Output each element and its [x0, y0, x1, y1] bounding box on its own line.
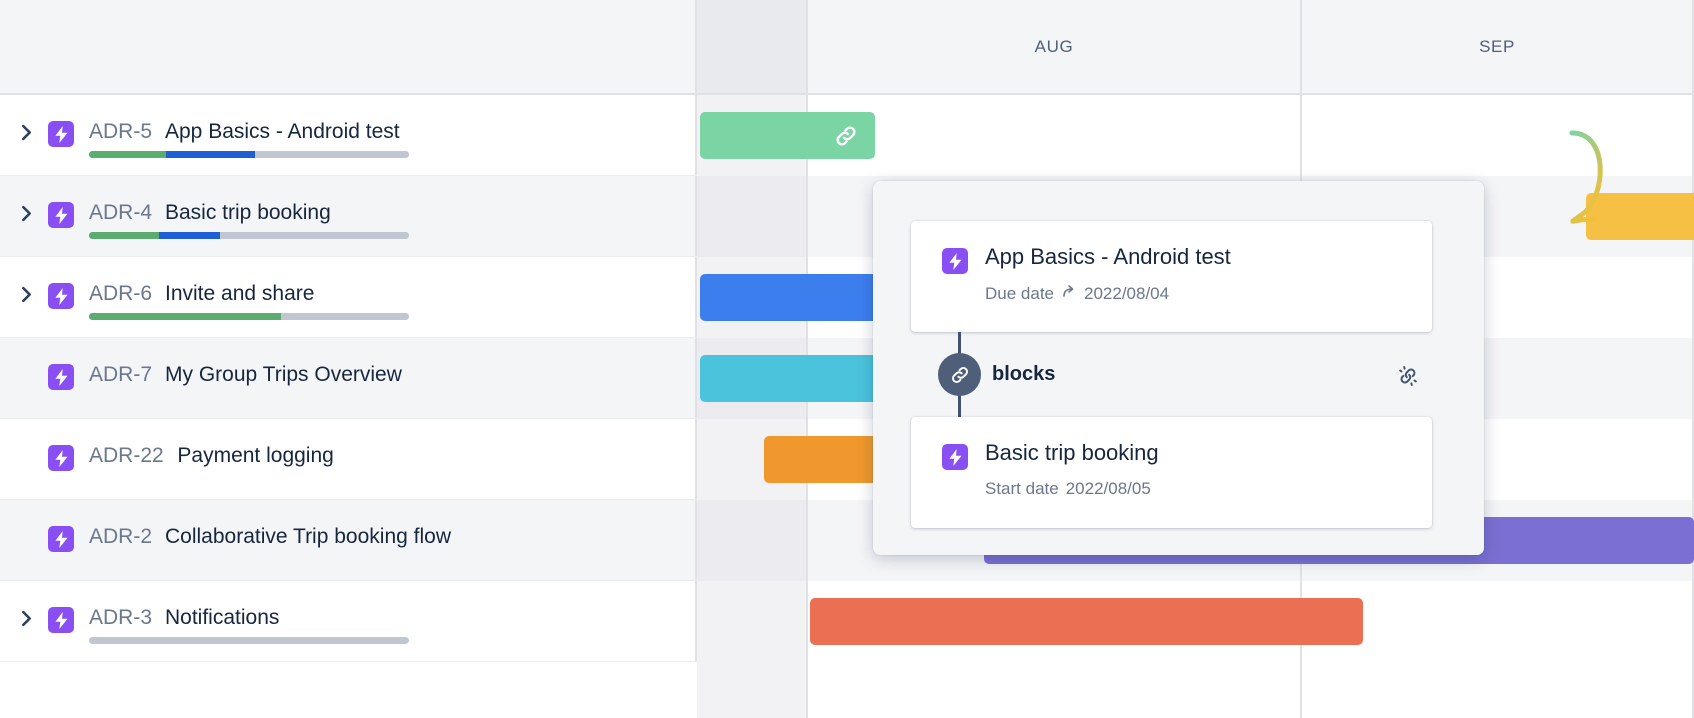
- progress-bar: [89, 313, 409, 320]
- gantt-bar-adr-5[interactable]: [700, 112, 875, 159]
- issue-row-adr-6[interactable]: ADR-6Invite and share: [0, 257, 697, 338]
- epic-bolt-icon: [48, 445, 74, 471]
- month-header-blank: [697, 0, 808, 93]
- progress-segment: [89, 232, 159, 239]
- month-header-sep: SEP: [1302, 0, 1694, 93]
- issue-key[interactable]: ADR-5: [89, 120, 152, 144]
- issue-key[interactable]: ADR-3: [89, 606, 152, 630]
- timeline-app: AUGSEP ADR-5App Basics - Android testADR…: [0, 0, 1694, 718]
- timeline-header: AUGSEP: [0, 0, 1694, 95]
- progress-segment: [89, 637, 409, 644]
- epic-bolt-icon: [48, 607, 74, 633]
- chevron-right-icon[interactable]: [17, 204, 35, 222]
- issue-summary[interactable]: Notifications: [165, 606, 279, 630]
- epic-bolt-icon: [942, 444, 968, 470]
- progress-bar: [89, 232, 409, 239]
- issue-summary[interactable]: Collaborative Trip booking flow: [165, 525, 451, 549]
- issue-row-adr-7[interactable]: ADR-7My Group Trips Overview: [0, 338, 697, 419]
- due-date-arrow-icon: [1061, 283, 1077, 304]
- issue-row-adr-22[interactable]: ADR-22Payment logging: [0, 419, 697, 500]
- gantt-bar-adr-4[interactable]: [1586, 193, 1694, 240]
- gantt-bar-adr-3[interactable]: [810, 598, 1363, 645]
- popup-source-card[interactable]: App Basics - Android test Due date 2022/…: [911, 221, 1432, 332]
- header-issue-column: [0, 0, 697, 93]
- month-label: SEP: [1479, 37, 1515, 57]
- progress-segment: [220, 232, 409, 239]
- epic-bolt-icon: [48, 202, 74, 228]
- popup-target-meta-value: 2022/08/05: [1066, 479, 1151, 499]
- issue-key[interactable]: ADR-4: [89, 201, 152, 225]
- issue-summary[interactable]: Payment logging: [177, 444, 333, 468]
- header-month-scale: AUGSEP: [697, 0, 1694, 93]
- timeline-column: [697, 95, 808, 718]
- row-divider: [0, 661, 697, 662]
- popup-target-meta: Start date 2022/08/05: [985, 479, 1151, 499]
- issue-row-adr-3[interactable]: ADR-3Notifications: [0, 581, 697, 662]
- issue-row-adr-2[interactable]: ADR-2Collaborative Trip booking flow: [0, 500, 697, 581]
- link-icon: [938, 353, 981, 396]
- issue-key[interactable]: ADR-6: [89, 282, 152, 306]
- progress-segment: [166, 151, 256, 158]
- issue-summary[interactable]: Invite and share: [165, 282, 314, 306]
- popup-target-card[interactable]: Basic trip booking Start date 2022/08/05: [911, 417, 1432, 528]
- issue-key[interactable]: ADR-2: [89, 525, 152, 549]
- month-header-aug: AUG: [808, 0, 1302, 93]
- link-icon[interactable]: [833, 123, 859, 149]
- progress-segment: [281, 313, 409, 320]
- issue-key[interactable]: ADR-7: [89, 363, 152, 387]
- epic-bolt-icon: [48, 283, 74, 309]
- progress-segment: [89, 151, 166, 158]
- epic-bolt-icon: [48, 364, 74, 390]
- popup-source-meta: Due date 2022/08/04: [985, 283, 1169, 304]
- issue-summary[interactable]: App Basics - Android test: [165, 120, 400, 144]
- popup-source-meta-value: 2022/08/04: [1084, 284, 1169, 304]
- issue-key[interactable]: ADR-22: [89, 444, 164, 468]
- epic-bolt-icon: [942, 248, 968, 274]
- popup-relation-label: blocks: [992, 363, 1055, 386]
- issue-row-adr-4[interactable]: ADR-4Basic trip booking: [0, 176, 697, 257]
- popup-target-meta-label: Start date: [985, 479, 1059, 499]
- popup-source-title: App Basics - Android test: [985, 244, 1231, 270]
- progress-bar: [89, 637, 409, 644]
- popup-source-meta-label: Due date: [985, 284, 1054, 304]
- chevron-right-icon[interactable]: [17, 285, 35, 303]
- popup-target-title: Basic trip booking: [985, 440, 1159, 466]
- issue-row-adr-5[interactable]: ADR-5App Basics - Android test: [0, 95, 697, 176]
- progress-segment: [255, 151, 409, 158]
- progress-segment: [159, 232, 220, 239]
- progress-segment: [89, 313, 281, 320]
- chevron-right-icon[interactable]: [17, 609, 35, 627]
- month-label: AUG: [1035, 37, 1074, 57]
- issue-summary[interactable]: My Group Trips Overview: [165, 363, 402, 387]
- dependency-popup[interactable]: App Basics - Android test Due date 2022/…: [873, 181, 1484, 555]
- unlink-icon[interactable]: [1395, 363, 1421, 389]
- epic-bolt-icon: [48, 121, 74, 147]
- epic-bolt-icon: [48, 526, 74, 552]
- chevron-right-icon[interactable]: [17, 123, 35, 141]
- issue-summary[interactable]: Basic trip booking: [165, 201, 331, 225]
- progress-bar: [89, 151, 409, 158]
